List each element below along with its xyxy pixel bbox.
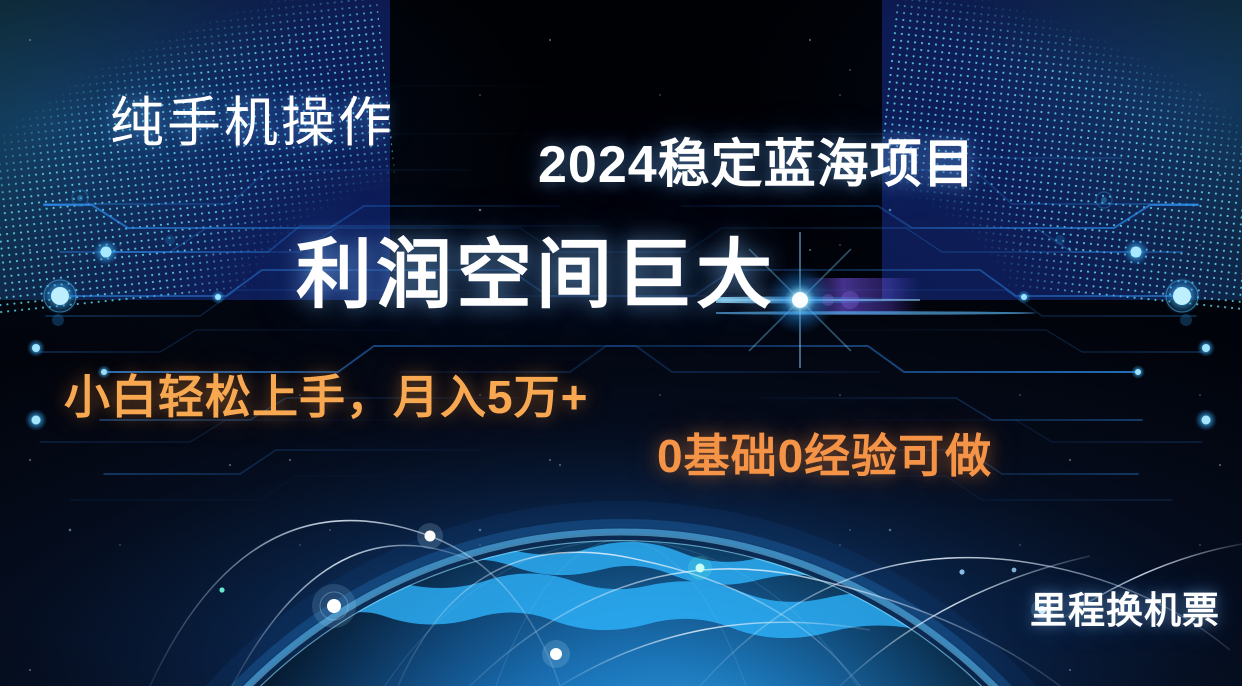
main-headline-text: 利润空间巨大 xyxy=(296,238,776,314)
tagline-text: 纯手机操作 xyxy=(110,96,395,150)
benefit-line-1-text: 小白轻松上手，月入5万+ xyxy=(64,374,588,420)
benefit-line-2-text: 0基础0经验可做 xyxy=(657,433,992,479)
promo-banner: 纯手机操作 2024稳定蓝海项目 利润空间巨大 小白轻松上手，月入5万+ 0基础… xyxy=(0,0,1242,686)
year-headline-text: 2024稳定蓝海项目 xyxy=(538,139,976,191)
corner-label-text: 里程换机票 xyxy=(1030,592,1220,629)
